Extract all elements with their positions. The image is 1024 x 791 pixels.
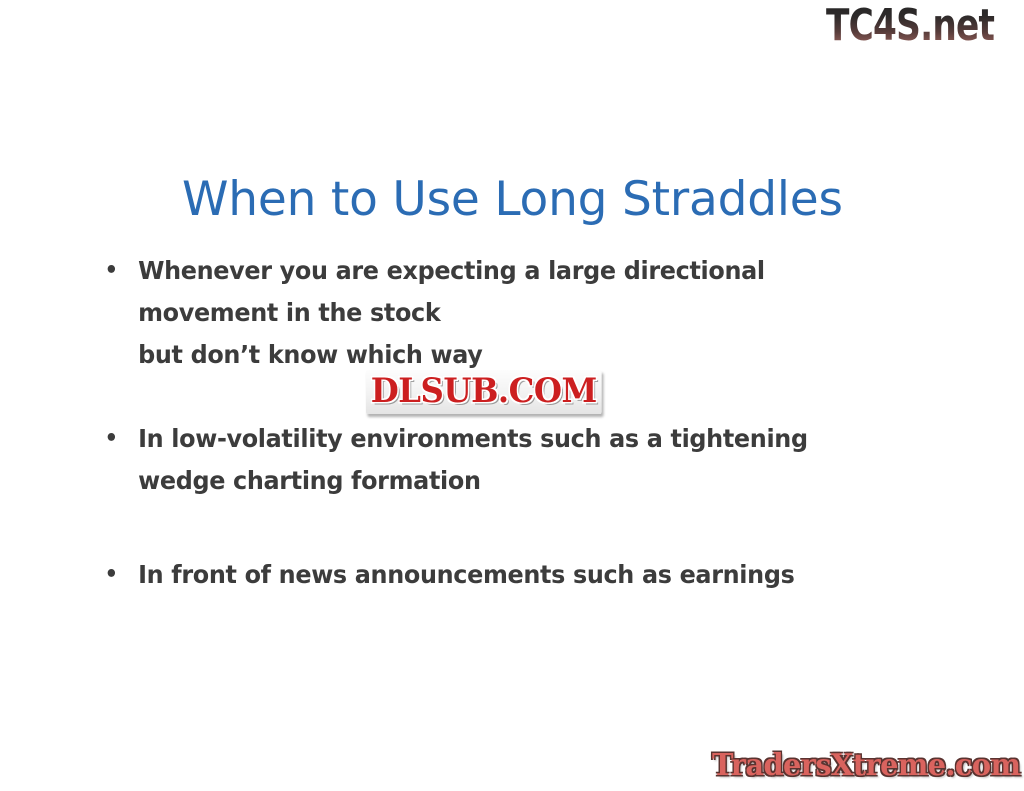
brand-logo: TradersXtreme.com xyxy=(712,746,1020,786)
bullet-marker-icon: • xyxy=(105,250,118,292)
page-title: When to Use Long Straddles xyxy=(182,171,882,229)
slide-canvas: TC4S.net When to Use Long Straddles • Wh… xyxy=(0,0,1024,791)
bullet-list: • Whenever you are expecting a large dir… xyxy=(98,250,928,596)
bullet-marker-icon: • xyxy=(105,554,118,596)
bullet-line: In low-volatility environments such as a… xyxy=(138,418,891,460)
bullet-marker-icon: • xyxy=(105,418,118,460)
tc4s-watermark: TC4S.net xyxy=(826,2,994,50)
bullet-line: Whenever you are expecting a large direc… xyxy=(138,250,891,292)
list-item: • In low-volatility environments such as… xyxy=(98,418,891,502)
bullet-line: wedge charting formation xyxy=(138,460,891,502)
list-item: • In front of news announcements such as… xyxy=(98,554,891,596)
list-item: • Whenever you are expecting a large dir… xyxy=(98,250,891,376)
dlsub-watermark: DLSUB.COM xyxy=(366,370,602,414)
bullet-line: movement in the stock xyxy=(138,292,891,334)
bullet-line: In front of news announcements such as e… xyxy=(138,554,891,596)
